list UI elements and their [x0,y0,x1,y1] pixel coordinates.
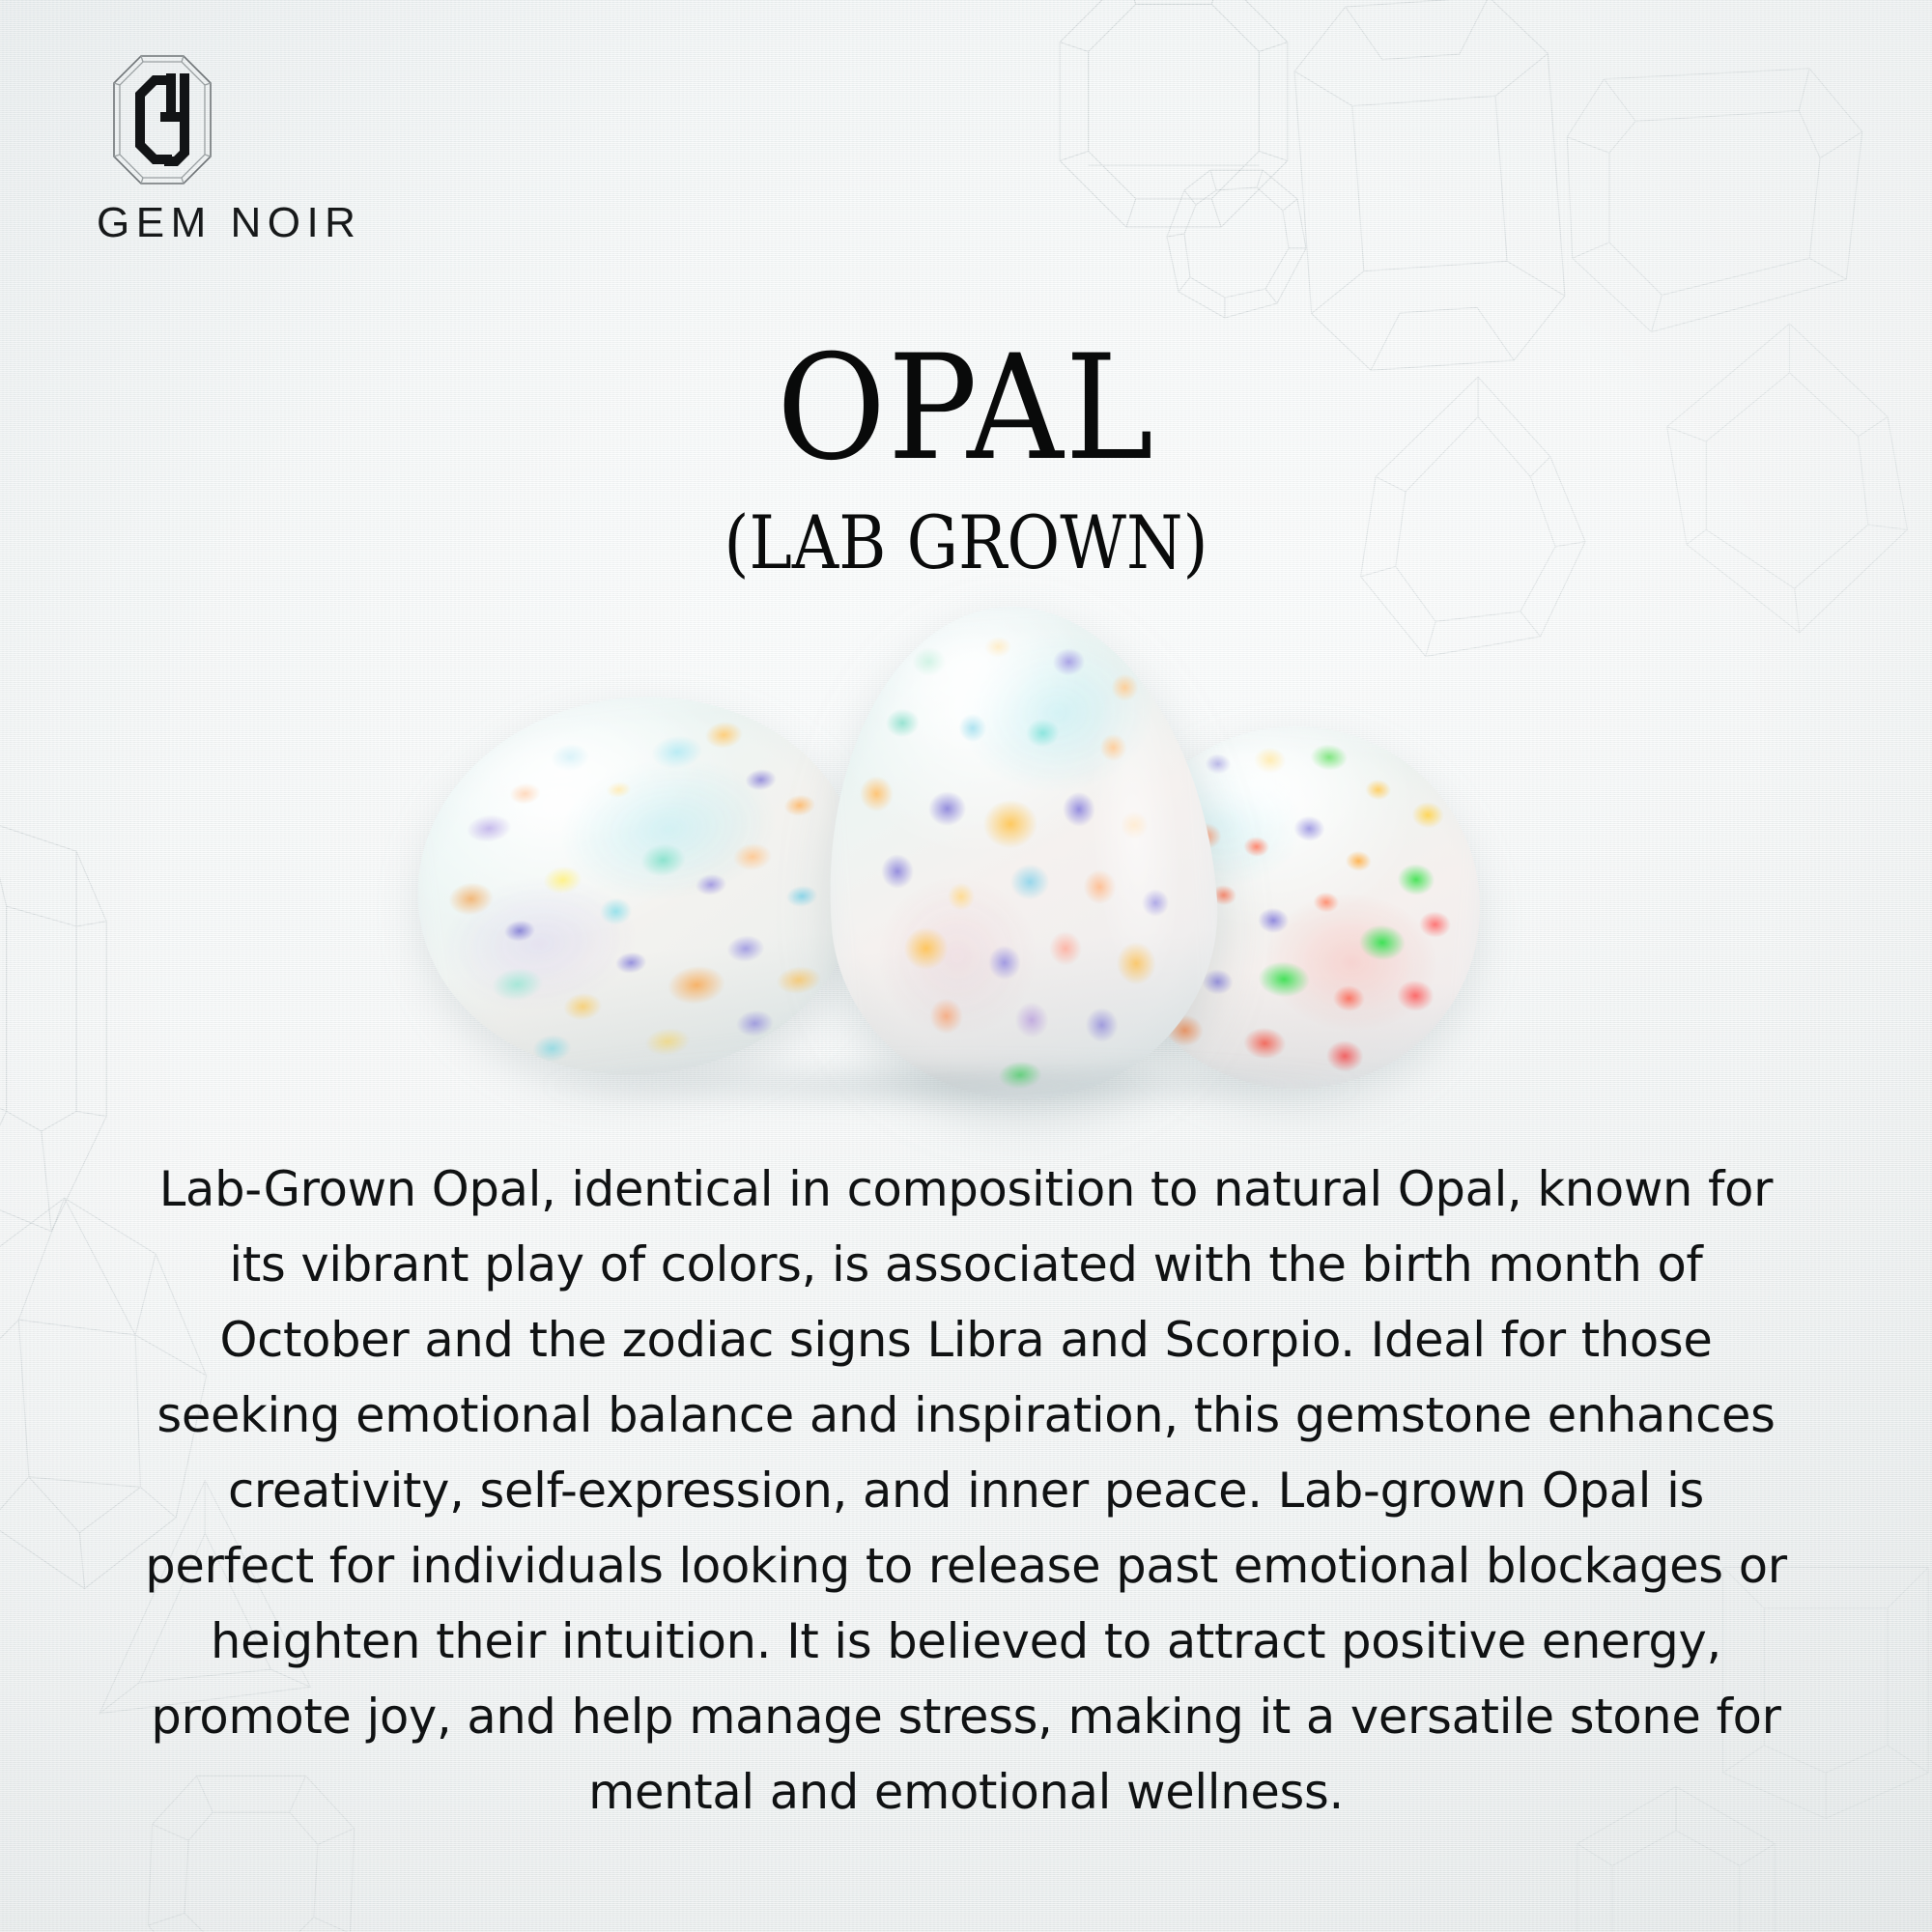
product-description: Lab-Grown Opal, identical in composition… [145,1151,1787,1830]
opal-product-poster: GEM NOIR OPAL (LAB GROWN) [0,0,1932,1932]
gem-group-shadow [415,1051,1488,1121]
opal-stone-left [396,671,883,1099]
gem-watermark-round-icon [1164,164,1309,324]
opal-stone-center [810,594,1231,1113]
page-title: OPAL [77,336,1855,481]
product-image [0,618,1932,1121]
octagon-gem-monogram-icon [112,54,213,185]
brand-logo[interactable]: GEM NOIR [97,54,386,247]
page-subtitle: (LAB GROWN) [116,506,1816,580]
gem-watermark-emerald-cut-icon [1271,0,1587,386]
brand-name: GEM NOIR [97,199,386,247]
gem-watermark-octagon-icon [1053,0,1294,232]
gem-watermark-baguette-icon [1555,58,1874,348]
heading-block: OPAL (LAB GROWN) [0,336,1932,580]
